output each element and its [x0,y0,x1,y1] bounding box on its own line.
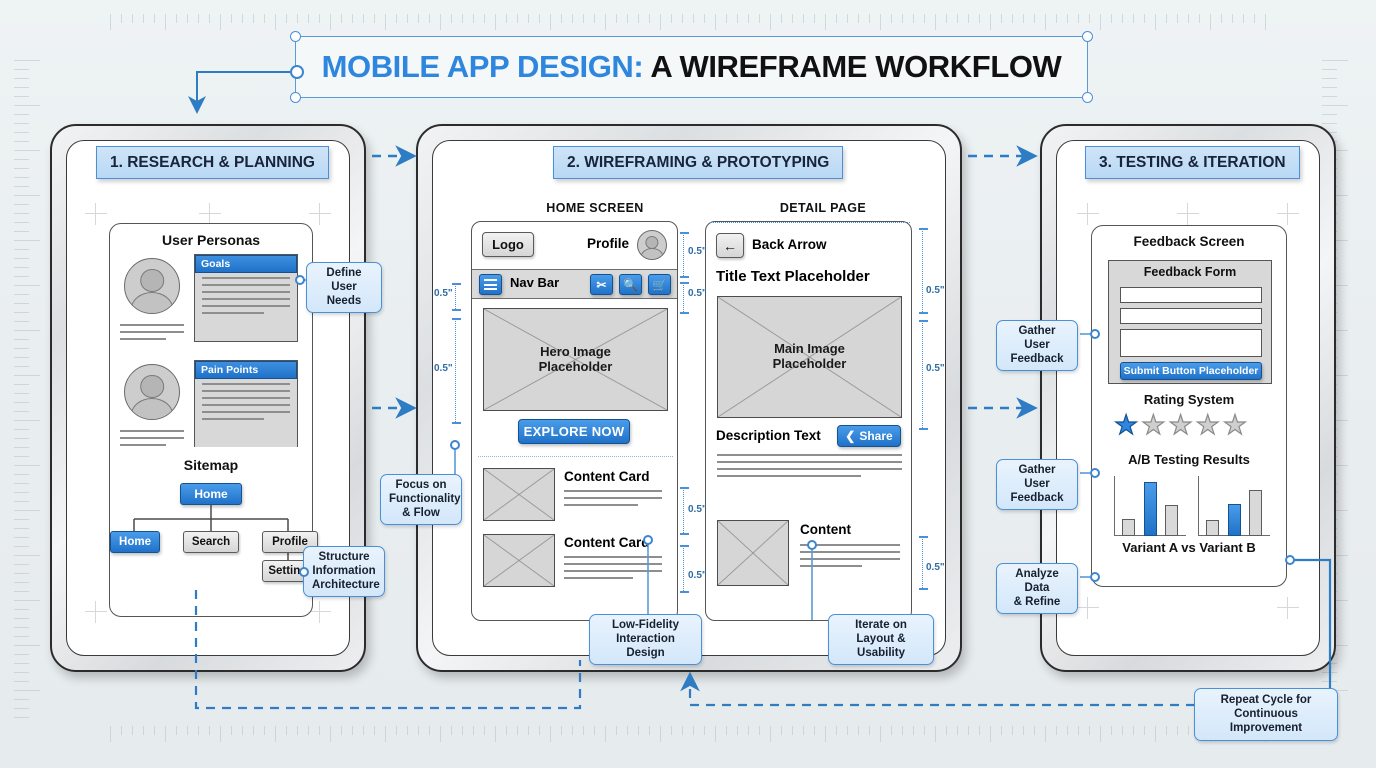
rating-system-heading: Rating System [1092,392,1286,407]
callout-gather-feedback-1: Gather User Feedback [996,320,1078,371]
callout-anchor[interactable] [1285,555,1295,565]
measure-label: 0.5" [434,288,453,299]
page-title-rest: A WIREFRAME WORKFLOW [643,49,1061,84]
hamburger-icon[interactable] [479,274,502,295]
callout-anchor[interactable] [295,275,305,285]
page-title: MOBILE APP DESIGN: A WIREFRAME WORKFLOW [295,36,1088,98]
description-text-label: Description Text [716,428,821,443]
measure-label: 0.5" [926,562,945,573]
back-arrow-icon[interactable]: ← [716,233,744,258]
avatar [124,364,180,420]
measure-line [683,282,684,314]
chart-bar [1144,482,1157,536]
measure-line [683,232,684,278]
measure-line [455,318,456,424]
profile-label: Profile [587,236,629,251]
share-icon: ❮ [845,429,855,443]
panel-title-testing: 3. TESTING & ITERATION [1085,146,1300,179]
persona-2-text-lines [202,383,290,425]
feedback-form: Feedback Form Submit Button Placeholder [1108,260,1272,384]
content-title: Content [800,522,851,537]
panel-title-research: 1. RESEARCH & PLANNING [96,146,329,179]
tools-icon[interactable]: ✂ [590,274,613,295]
sitemap-node-search[interactable]: Search [183,531,239,553]
callout-define-user-needs: Define User Needs [306,262,382,313]
rating-star-3[interactable]: ★ [1168,412,1192,439]
resize-handle-tl[interactable] [290,31,301,42]
callout-gather-feedback-2: Gather User Feedback [996,459,1078,510]
main-image-placeholder: Main Image Placeholder [717,296,902,418]
content-card-1-lines [564,490,662,511]
callout-anchor[interactable] [807,540,817,550]
chart-bar [1165,505,1178,536]
ab-testing-heading: A/B Testing Results [1092,452,1286,467]
main-image-label: Main Image Placeholder [773,342,847,372]
callout-anchor[interactable] [299,567,309,577]
diagram-canvas: MOBILE APP DESIGN: A WIREFRAME WORKFLOW [0,0,1376,768]
detail-width-measure [710,222,910,223]
back-arrow-label: Back Arrow [752,237,827,252]
measure-label: 0.5" [926,363,945,374]
content-card-2-lines [564,556,662,584]
callout-anchor[interactable] [1090,329,1100,339]
content-card-1-image [483,468,555,521]
ab-chart-variant-b [1198,476,1270,536]
measure-line [455,283,456,311]
sitemap-node-home[interactable]: Home [110,531,160,553]
feedback-screen-heading: Feedback Screen [1092,234,1286,249]
divider [478,456,673,457]
callout-analyze-refine: Analyze Data & Refine [996,563,1078,614]
rating-star-5[interactable]: ★ [1223,412,1247,439]
user-personas-card: User Personas Goals Pain [109,223,313,477]
measure-line [922,320,923,430]
callout-focus-functionality: Focus on Functionality & Flow [380,474,462,525]
ruler-bottom [110,726,1270,756]
measure-line [922,228,923,314]
description-lines [717,454,902,482]
measure-label: 0.5" [434,363,453,374]
content-card-2-title: Content Card [564,535,650,550]
persona-card-label: Pain Points [195,361,297,379]
chart-bar [1228,504,1241,536]
panel-wireframing-prototyping[interactable]: HOME SCREEN DETAIL PAGE Logo Profile Nav… [416,124,962,672]
detail-page-frame: ← Back Arrow Title Text Placeholder Main… [705,221,912,621]
hero-image-placeholder: Hero Image Placeholder [483,308,668,411]
share-button[interactable]: ❮ Share [837,425,901,447]
search-icon[interactable]: 🔍 [619,274,642,295]
ruler-left [14,60,54,720]
feedback-screen-card: Feedback Screen Feedback Form Submit But… [1091,225,1287,587]
resize-handle-br[interactable] [1082,92,1093,103]
home-screen-label: HOME SCREEN [505,201,685,215]
feedback-field-2[interactable] [1120,308,1262,324]
logo-button[interactable]: Logo [482,232,534,257]
feedback-field-3[interactable] [1120,329,1262,357]
feedback-form-heading: Feedback Form [1109,265,1271,279]
persona-2-panel: Pain Points [194,360,298,448]
callout-structure-ia: Structure Information Architecture [303,546,385,597]
content-card-1-title: Content Card [564,469,650,484]
measure-line [683,545,684,593]
measure-line [683,487,684,535]
feedback-field-1[interactable] [1120,287,1262,303]
cart-icon[interactable]: 🛒 [648,274,671,295]
callout-anchor[interactable] [1090,572,1100,582]
avatar [124,258,180,314]
ab-chart-variant-a [1114,476,1186,536]
nav-bar[interactable]: Nav Bar ✂ 🔍 🛒 [472,269,677,299]
measure-label: 0.5" [688,504,707,515]
chart-axis-y [1114,476,1115,536]
chart-bar [1206,520,1219,536]
rating-star-2[interactable]: ★ [1141,412,1165,439]
measure-line [922,536,923,590]
panel-testing-iteration[interactable]: Feedback Screen Feedback Form Submit But… [1040,124,1336,672]
content-card-2-image [483,534,555,587]
sitemap-card: Sitemap Home Home Search Profile Setting… [109,447,313,617]
callout-iterate-layout: Iterate on Layout & Usability [828,614,934,665]
content-image-placeholder [717,520,789,586]
profile-avatar-icon[interactable] [637,230,667,260]
chart-bar [1249,490,1262,536]
nav-bar-label: Nav Bar [510,275,559,290]
measure-label: 0.5" [688,570,707,581]
resize-handle-bl[interactable] [290,92,301,103]
callout-anchor[interactable] [450,440,460,450]
resize-handle-tr[interactable] [1082,31,1093,42]
persona-1-panel: Goals [194,254,298,342]
explore-now-button[interactable]: EXPLORE NOW [518,419,630,444]
persona-1-lines [120,324,184,345]
rating-star-4[interactable]: ★ [1196,412,1220,439]
callout-low-fidelity: Low-Fidelity Interaction Design [589,614,702,665]
user-personas-heading: User Personas [110,232,312,248]
callout-anchor[interactable] [643,535,653,545]
panel-title-wireframing: 2. WIREFRAMING & PROTOTYPING [553,146,843,179]
home-screen-frame: Logo Profile Nav Bar ✂ 🔍 🛒 Hero Im [471,221,678,621]
rating-stars[interactable]: ★★★★★ [1114,412,1247,439]
detail-page-label: DETAIL PAGE [733,201,913,215]
submit-button[interactable]: Submit Button Placeholder [1120,362,1262,380]
ab-testing-caption: Variant A vs Variant B [1092,540,1286,555]
callout-anchor[interactable] [1090,468,1100,478]
page-title-lead: MOBILE APP DESIGN: [322,49,644,84]
chart-bar [1122,519,1135,536]
share-label: Share [859,429,892,443]
measure-label: 0.5" [926,285,945,296]
persona-card-label: Goals [195,255,297,273]
chart-axis-y [1198,476,1199,536]
callout-repeat-cycle: Repeat Cycle for Continuous Improvement [1194,688,1338,741]
measure-label: 0.5" [688,246,707,257]
rating-star-1[interactable]: ★ [1114,412,1138,439]
persona-1-text-lines [202,277,290,319]
measure-label: 0.5" [688,288,707,299]
detail-title: Title Text Placeholder [716,268,870,285]
hero-image-label: Hero Image Placeholder [539,345,613,375]
